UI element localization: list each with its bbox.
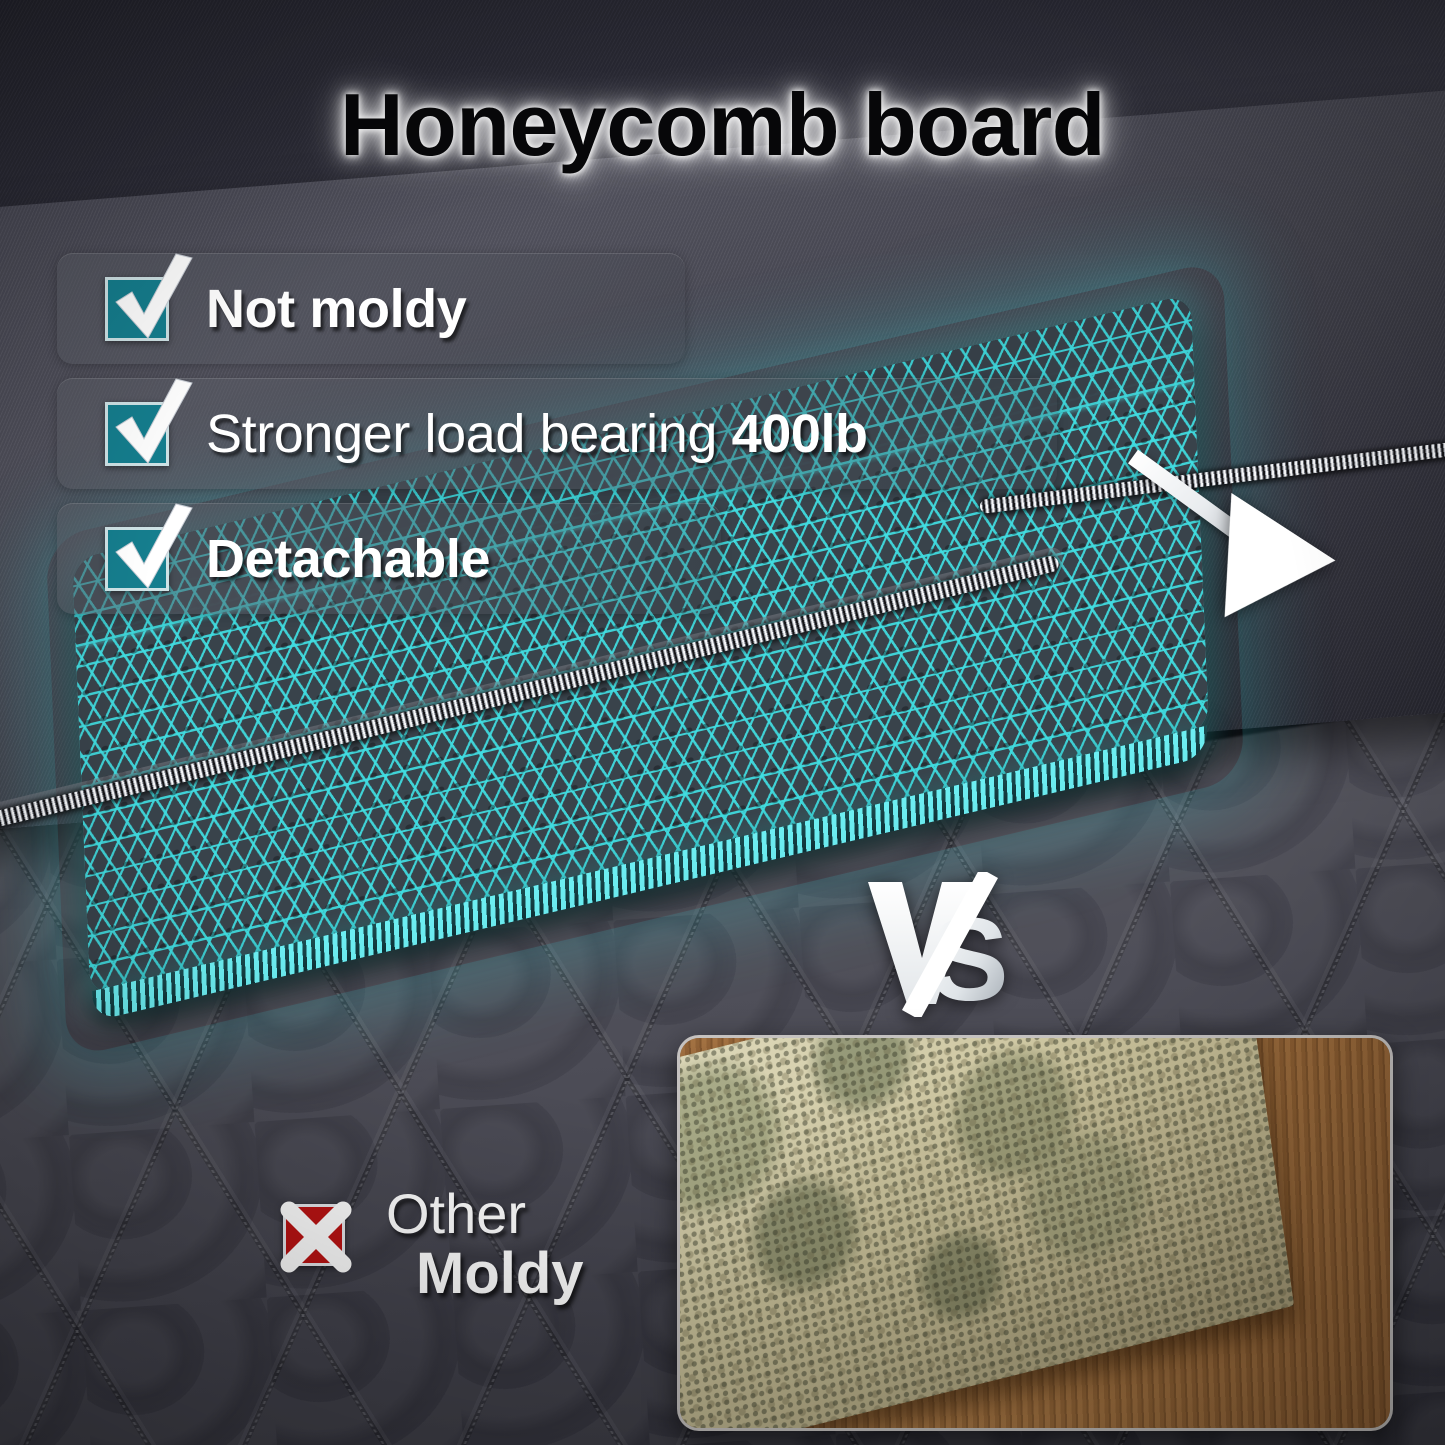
check-icon-box xyxy=(105,402,169,466)
negative-comparison-text: Other Moldy xyxy=(386,1186,643,1307)
feature-label-wrapper: Stronger load bearing 400lb xyxy=(206,403,868,465)
check-icon-box xyxy=(105,527,169,591)
x-icon xyxy=(264,1185,368,1289)
product-infographic: Honeycomb board Not moldy Stronger load … xyxy=(0,0,1445,1445)
feature-label: Detachable xyxy=(206,528,490,590)
check-icon-box xyxy=(105,277,169,341)
check-icon xyxy=(102,252,198,348)
feature-label-emphasis: 400lb xyxy=(732,404,868,464)
negative-label-moldy: Moldy xyxy=(416,1242,643,1307)
page-title: Honeycomb board xyxy=(0,74,1445,176)
feature-label: Stronger load bearing xyxy=(206,404,732,464)
check-icon xyxy=(102,377,198,473)
x-icon-box xyxy=(283,1204,345,1266)
feature-list: Not moldy Stronger load bearing 400lb De… xyxy=(57,253,1057,628)
feature-item-load-bearing: Stronger load bearing 400lb xyxy=(57,378,1057,489)
moldy-board-photo-inset xyxy=(677,1035,1393,1431)
feature-item-detachable: Detachable xyxy=(57,503,721,614)
feature-label: Not moldy xyxy=(206,278,466,340)
feature-item-not-moldy: Not moldy xyxy=(57,253,685,364)
vs-badge: S xyxy=(862,872,1022,1017)
check-icon xyxy=(102,502,198,598)
negative-label-other: Other xyxy=(386,1186,643,1242)
negative-comparison-block: Other Moldy xyxy=(283,1186,643,1307)
